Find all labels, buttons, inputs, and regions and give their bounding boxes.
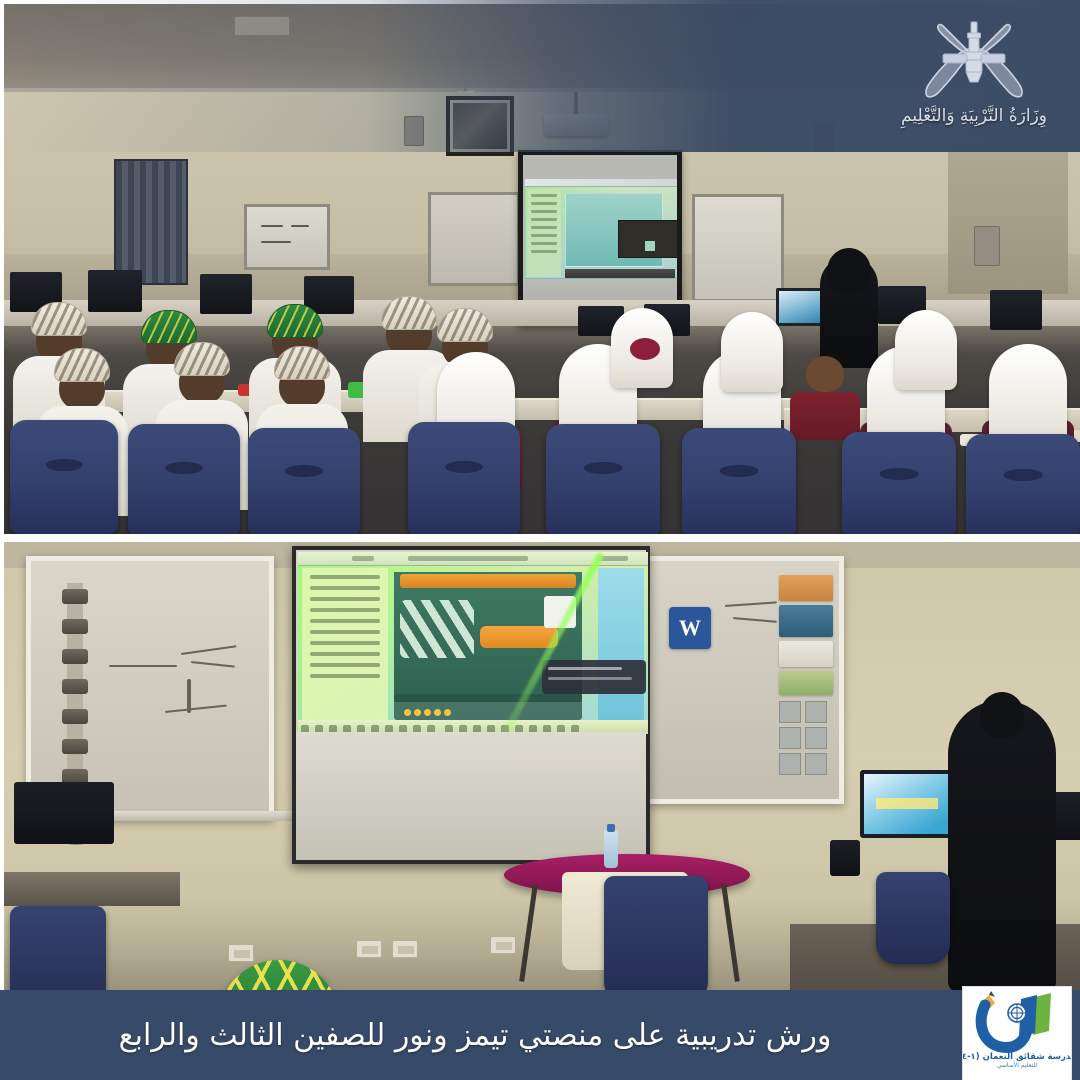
- projection-sidebar: [527, 189, 561, 277]
- wall-speaker: [814, 122, 834, 152]
- classroom-chair: [248, 428, 360, 534]
- poster-blue: [779, 605, 833, 637]
- classroom-scene-top: [4, 4, 1080, 534]
- magnet: [62, 649, 88, 664]
- projection-main-panel: [565, 193, 663, 267]
- classroom-chair: [408, 422, 520, 534]
- poster-swatch: [779, 753, 801, 775]
- classroom-chair: [966, 434, 1080, 534]
- whiteboard-left: [244, 204, 330, 270]
- classroom-chair: [876, 872, 950, 964]
- magnet: [62, 679, 88, 694]
- photo-top-computer-lab: [4, 4, 1080, 534]
- whiteboard-line: [109, 665, 177, 667]
- projection-screen-blank-area: [296, 732, 646, 860]
- poster-swatch: [805, 701, 827, 723]
- magnet: [62, 739, 88, 754]
- wall-socket: [490, 936, 516, 954]
- water-bottle: [604, 830, 618, 868]
- wall-socket: [392, 940, 418, 958]
- slide-title-banner: [400, 574, 576, 588]
- poster-white: [779, 641, 833, 667]
- window-vertical-blinds: [114, 159, 188, 285]
- whiteboard-right: [692, 194, 784, 302]
- poster-swatch: [805, 753, 827, 775]
- slide-illustration: [400, 600, 474, 658]
- computer-desk: [4, 872, 180, 906]
- whiteboard-writing: [165, 705, 227, 713]
- whiteboard-right-with-posters: W: [632, 556, 844, 804]
- ceiling-vent: [234, 16, 290, 36]
- poster-canvas: W: [0, 0, 1080, 1080]
- wall-speaker: [404, 116, 424, 146]
- projection-screen-bottom: [292, 546, 650, 864]
- poster-swatch: [779, 701, 801, 723]
- classroom-chair: [128, 424, 240, 534]
- classroom-chair: [546, 424, 660, 534]
- computer-speaker: [830, 840, 860, 876]
- slide-right-pane: [598, 568, 644, 724]
- slide-sidebar: [302, 568, 388, 724]
- framed-picture: [446, 96, 514, 156]
- projector-mount-rod: [574, 92, 578, 116]
- rating-stars: [404, 703, 454, 721]
- ceiling-projector: [544, 114, 608, 136]
- caption-bar: ورش تدريبية على منصتي تيمز ونور للصفين ا…: [0, 990, 1080, 1080]
- whiteboard-writing: [181, 645, 237, 655]
- whiteboard-writing: [191, 661, 235, 668]
- computer-monitor: [990, 290, 1042, 330]
- whiteboard-center: [428, 192, 520, 286]
- magnet: [62, 589, 88, 604]
- wall-socket: [228, 944, 254, 962]
- computer-monitor: [14, 782, 114, 844]
- microsoft-word-icon: W: [669, 607, 711, 649]
- teacher-in-abaya: [948, 700, 1056, 992]
- poster-swatch: [779, 727, 801, 749]
- classroom-chair: [842, 432, 956, 534]
- projection-video-tile: [618, 220, 677, 258]
- notification-toast: [542, 660, 646, 694]
- whiteboard-writing: [733, 617, 777, 623]
- projected-elearning-slide: [298, 552, 648, 734]
- slide-orange-button: [480, 626, 558, 648]
- table-leg: [519, 884, 538, 982]
- classroom-chair: [604, 876, 708, 1002]
- poster-swatch: [805, 727, 827, 749]
- caption-text: ورش تدريبية على منصتي تيمز ونور للصفين ا…: [0, 1018, 1080, 1053]
- school-logo-mark-icon: [971, 991, 1063, 1053]
- classroom-chair: [10, 420, 118, 534]
- magnet: [62, 709, 88, 724]
- table-leg: [721, 884, 740, 982]
- wall-socket: [356, 940, 382, 958]
- student-accessory: [624, 332, 684, 412]
- whiteboard-writing: [725, 601, 777, 607]
- student-girl-back: [884, 298, 968, 448]
- slide-bottom-tray: [394, 694, 582, 720]
- ceiling: [4, 4, 1080, 92]
- projected-teams-interface: [525, 179, 677, 287]
- poster-green: [779, 671, 833, 695]
- classroom-chair: [682, 428, 796, 534]
- poster-orange: [779, 575, 833, 601]
- whiteboard-left-with-magnets: [26, 556, 274, 820]
- wall-speaker: [974, 226, 1000, 266]
- school-name-subtitle: للتعليم الأساسي: [997, 1063, 1037, 1070]
- magnet: [62, 619, 88, 634]
- school-logo-card: مدرسة شقائق النعمان (١-٤) للتعليم الأساس…: [962, 986, 1072, 1080]
- wall-panel-right: [948, 144, 1068, 294]
